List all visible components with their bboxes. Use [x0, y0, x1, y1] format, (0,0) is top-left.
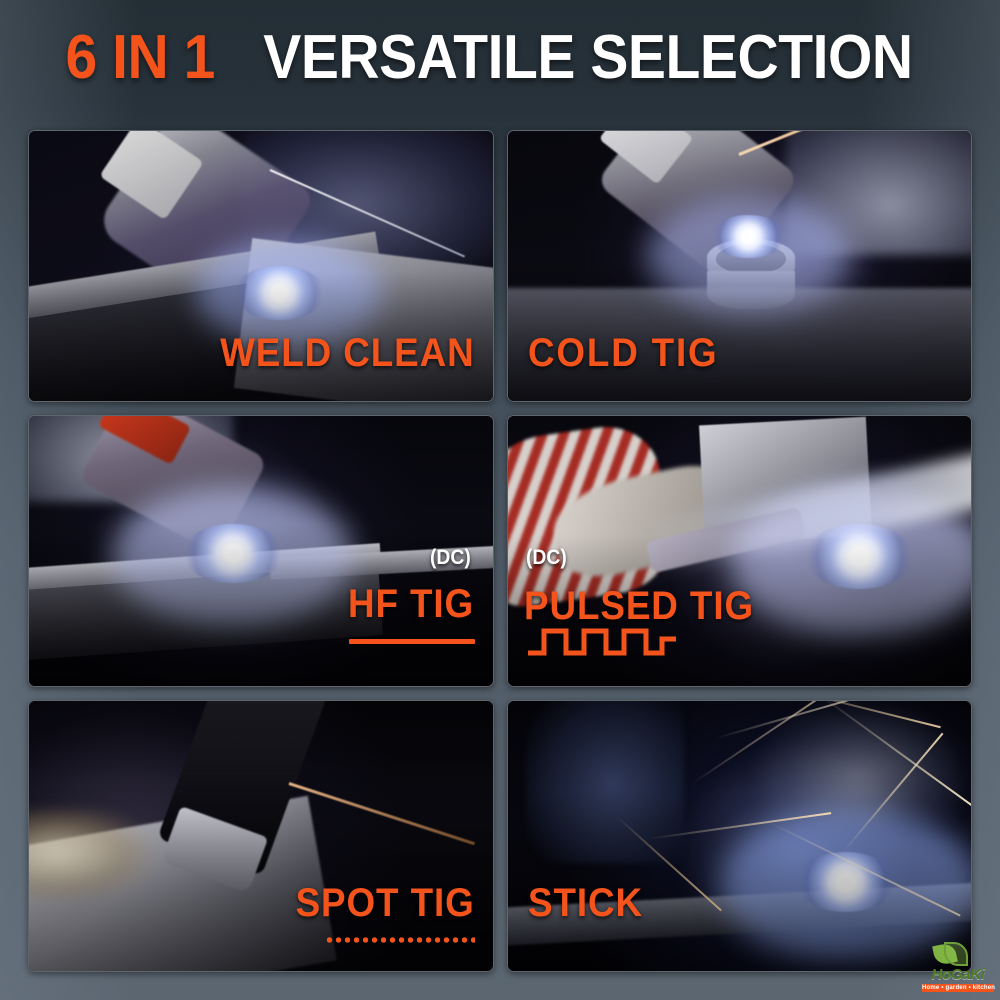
panel-weld-clean[interactable]: WELD CLEAN — [28, 130, 494, 402]
watermark-logo: HoGaKi Home • garden • kitchen — [922, 942, 994, 992]
pulse-wave-icon — [526, 623, 678, 668]
panel-label-stick: STICK — [528, 883, 643, 923]
photo-hf-tig — [29, 416, 493, 686]
panel-underline-hf-tig — [349, 639, 475, 644]
photo-spot-tig — [29, 701, 493, 971]
brand-tagline: Home • garden • kitchen — [922, 984, 994, 992]
panel-stick[interactable]: STICK — [507, 700, 973, 972]
brand-name: HoGaKi — [922, 966, 994, 983]
panel-underline-spot-tig — [325, 937, 475, 943]
panel-label-pulsed-tig: PULSED TIG — [524, 586, 754, 626]
panel-tag-pulsed-tig: (DC) — [526, 547, 567, 568]
panel-cold-tig[interactable]: COLD TIG — [507, 130, 973, 402]
panel-spot-tig[interactable]: SPOT TIG — [28, 700, 494, 972]
panel-label-weld-clean: WELD CLEAN — [220, 333, 475, 373]
panel-tag-hf-tig: (DC) — [430, 547, 471, 568]
title-highlight: 6 IN 1 — [65, 27, 214, 89]
photo-stick — [508, 701, 972, 971]
leaf-house-icon — [922, 942, 994, 968]
panel-label-hf-tig: HF TIG — [348, 584, 474, 624]
panel-label-cold-tig: COLD TIG — [528, 333, 719, 373]
page-title: 6 IN 1 VERSATILE SELECTION — [0, 22, 1000, 94]
title-rest: VERSATILE SELECTION — [264, 27, 913, 89]
panel-label-spot-tig: SPOT TIG — [295, 883, 474, 923]
promo-image: 6 IN 1 VERSATILE SELECTION — [0, 0, 1000, 1000]
panel-pulsed-tig[interactable]: (DC) PULSED TIG — [507, 415, 973, 687]
feature-grid: WELD CLEAN — [28, 130, 972, 975]
panel-hf-tig[interactable]: (DC) HF TIG — [28, 415, 494, 687]
